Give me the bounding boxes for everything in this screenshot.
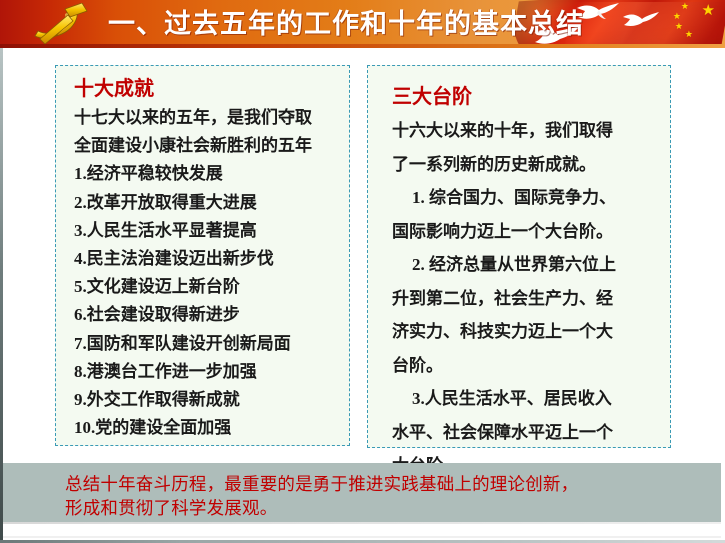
list-item: 6.社会建设取得新进步 bbox=[56, 301, 349, 329]
header-banner: ★ ★ ★ ★ ★ bbox=[0, 0, 725, 48]
list-item: 8.港澳台工作进一步加强 bbox=[56, 358, 349, 386]
paragraph-line: 国际影响力迈上一个大台阶。 bbox=[368, 215, 670, 249]
list-item: 9.外交工作取得新成就 bbox=[56, 386, 349, 414]
flag-star-large: ★ bbox=[702, 4, 715, 19]
paragraph-line: 水平、社会保障水平迈上一个 bbox=[368, 416, 670, 450]
left-box-title: 十大成就 bbox=[56, 66, 349, 104]
paragraph-line: 了一系列新的历史新成就。 bbox=[368, 148, 670, 182]
paragraph-line: 十六大以来的十年，我们取得 bbox=[368, 114, 670, 148]
bottom-thin-line bbox=[3, 536, 721, 538]
paragraph-line: 3.人民生活水平、居民收入 bbox=[368, 382, 670, 416]
flag-star-4: ★ bbox=[685, 30, 693, 39]
dove-icon bbox=[622, 11, 660, 30]
right-box-title: 三大台阶 bbox=[368, 66, 670, 114]
list-item: 7.国防和军队建设开创新局面 bbox=[56, 330, 349, 358]
paragraph-line: 台阶。 bbox=[368, 349, 670, 383]
paragraph-line: 济实力、科技实力迈上一个大 bbox=[368, 315, 670, 349]
flag-star-1: ★ bbox=[681, 2, 689, 11]
paragraph-line: 升到第二位，社会生产力、经 bbox=[368, 282, 670, 316]
flag-star-3: ★ bbox=[675, 22, 683, 31]
flag-star-2: ★ bbox=[673, 12, 681, 21]
list-item: 4.民主法治建设迈出新步伐 bbox=[56, 245, 349, 273]
list-item: 10.党的建设全面加强 bbox=[56, 414, 349, 442]
page-title: 一、过去五年的工作和十年的基本总结 bbox=[108, 7, 584, 41]
list-item: 3.人民生活水平显著提高 bbox=[56, 217, 349, 245]
paragraph-line: 2. 经济总量从世界第六位上 bbox=[368, 248, 670, 282]
summary-bar: 总结十年奋斗历程，最重要的是勇于推进实践基础上的理论创新， 形成和贯彻了科学发展… bbox=[3, 463, 721, 522]
left-box-lead-line: 十七大以来的五年，是我们夺取 bbox=[56, 104, 349, 132]
list-item: 1.经济平稳较快发展 bbox=[56, 160, 349, 188]
header-underline bbox=[0, 44, 725, 48]
left-box-lead-line: 全面建设小康社会新胜利的五年 bbox=[56, 132, 349, 160]
list-item: 5.文化建设迈上新台阶 bbox=[56, 273, 349, 301]
summary-line: 形成和贯彻了科学发展观。 bbox=[65, 496, 711, 520]
list-item: 2.改革开放取得重大进展 bbox=[56, 189, 349, 217]
summary-bottom-strip bbox=[3, 522, 721, 537]
summary-bottom-accent bbox=[3, 522, 721, 524]
paragraph-line: 1. 综合国力、国际竞争力、 bbox=[368, 181, 670, 215]
slide-root: ★ ★ ★ ★ ★ bbox=[0, 0, 725, 543]
summary-text-wrap: 总结十年奋斗历程，最重要的是勇于推进实践基础上的理论创新， 形成和贯彻了科学发展… bbox=[3, 463, 721, 520]
summary-line: 总结十年奋斗历程，最重要的是勇于推进实践基础上的理论创新， bbox=[65, 472, 711, 496]
hammer-and-sickle-emblem bbox=[22, 3, 96, 45]
right-content-box: 三大台阶 十六大以来的十年，我们取得 了一系列新的历史新成就。 1. 综合国力、… bbox=[367, 65, 671, 448]
left-content-box: 十大成就 十七大以来的五年，是我们夺取 全面建设小康社会新胜利的五年 1.经济平… bbox=[55, 65, 350, 446]
